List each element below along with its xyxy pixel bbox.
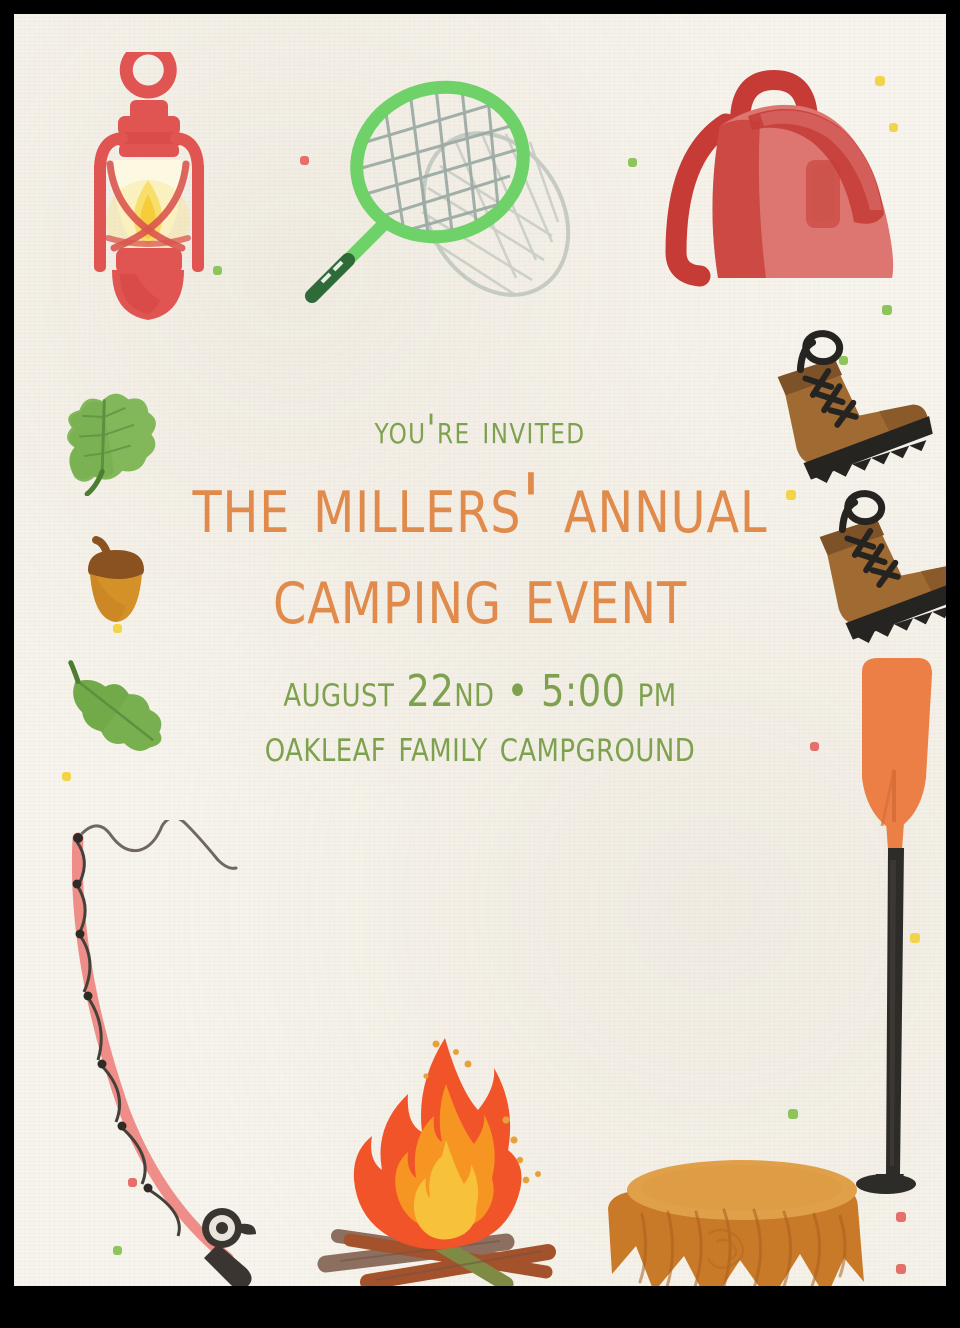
confetti-dot (889, 123, 898, 132)
confetti-dot (788, 1109, 798, 1119)
event-venue: Oakleaf Family Campground (47, 724, 914, 770)
tree-stump-illustration (592, 1142, 892, 1286)
confetti-dot (113, 1246, 122, 1255)
campfire-illustration (310, 1028, 580, 1286)
confetti-dot (300, 156, 309, 165)
confetti-dot (896, 1264, 906, 1274)
headline-line-2: Camping Event (47, 557, 914, 636)
fishing-rod-illustration (50, 820, 290, 1286)
headline-line-1: The Millers' Annual (47, 466, 914, 545)
confetti-dot (896, 1212, 906, 1222)
invitation-card: You're Invited The Millers' Annual Campi… (0, 0, 960, 1328)
invitation-text-block: You're Invited The Millers' Annual Campi… (14, 410, 946, 770)
confetti-dot (910, 933, 920, 943)
eyebrow-text: You're Invited (51, 410, 908, 450)
backpack-illustration (648, 64, 918, 304)
confetti-dot (875, 76, 885, 86)
confetti-dot (128, 1178, 137, 1187)
confetti-dot (213, 266, 222, 275)
camping-lantern-illustration (56, 52, 241, 332)
confetti-dot (62, 772, 71, 781)
invitation-paper: You're Invited The Millers' Annual Campi… (14, 14, 946, 1286)
confetti-dot (628, 158, 637, 167)
event-date-time: August 22nd • 5:00 PM (47, 669, 914, 715)
confetti-dot (839, 356, 848, 365)
badminton-racket-illustration (300, 46, 590, 316)
confetti-dot (882, 305, 892, 315)
